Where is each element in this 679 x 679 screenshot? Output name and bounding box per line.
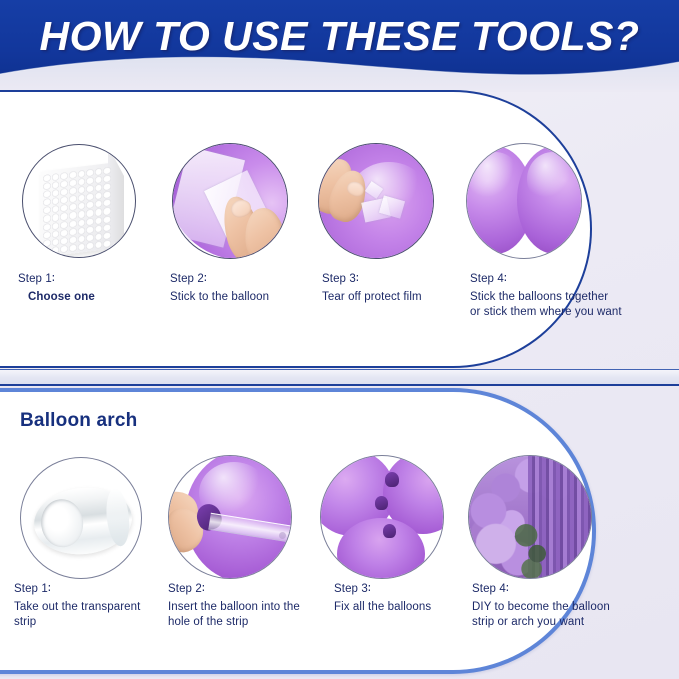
balloon-knot-2 [375,496,388,510]
tape-roll-hole [39,497,86,549]
page-title: HOW TO USE THESE TOOLS? [0,14,679,58]
caption-step-1-bottom: Step 1∶ Take out the transparent strip [14,582,164,630]
caption-step-4-top: Step 4∶ Stick the balloons together or s… [470,272,640,320]
tape-roll-body [31,483,135,559]
strip-hole [279,532,286,539]
balloon-knot-1 [385,472,399,487]
caption-step-3-bottom: Step 3∶ Fix all the balloons [334,582,474,615]
arch-foliage [515,517,552,578]
step-label: Step 4∶ [470,272,640,287]
dot-sheet-dots [43,167,111,255]
caption-step-2-top: Step 2∶ Stick to the balloon [170,272,310,305]
step-label: Step 1∶ [18,272,148,287]
step-image-hand-inserting-balloon-into-strip [168,455,292,579]
step-text: Stick to the balloon [170,290,310,305]
step-text: Tear off protect film [322,290,462,305]
caption-step-1-top: Step 1∶ Choose one [18,272,148,305]
step-image-adhesive-dot-sheet [22,144,136,258]
balloon-knot-3 [383,524,396,538]
step-image-hand-sticking-strip-to-balloon [172,143,288,259]
step-label: Step 2∶ [170,272,310,287]
step-label: Step 3∶ [322,272,462,287]
step-label: Step 3∶ [334,582,474,597]
step-image-two-balloons-joined [466,143,582,259]
step-label: Step 1∶ [14,582,164,597]
caption-step-4-bottom: Step 4∶ DIY to become the balloon strip … [472,582,632,630]
section-heading-balloon-arch: Balloon arch [20,410,137,432]
page-header: HOW TO USE THESE TOOLS? [0,0,679,92]
balloon-left-highlight [469,152,521,206]
step-text: Insert the balloon into the hole of the … [168,600,318,630]
step-label: Step 4∶ [472,582,632,597]
caption-step-2-bottom: Step 2∶ Insert the balloon into the hole… [168,582,318,630]
step-image-finished-balloon-arch [468,455,592,579]
step-text: DIY to become the balloon strip or arch … [472,600,632,630]
step-label: Step 2∶ [168,582,318,597]
step-text: Stick the balloons together or stick the… [470,290,640,320]
tape-roll-edge [104,487,132,547]
step-image-balloons-fixed-on-strip [320,455,444,579]
caption-step-3-top: Step 3∶ Tear off protect film [322,272,462,305]
step-image-peeling-protective-film [318,143,434,259]
step-image-transparent-tape-roll [20,457,142,579]
balloon-right-highlight [527,152,579,206]
step-text: Fix all the balloons [334,600,474,615]
step-text: Take out the transparent strip [14,600,164,630]
panel-divider [0,369,679,386]
step-text: Choose one [18,290,148,305]
